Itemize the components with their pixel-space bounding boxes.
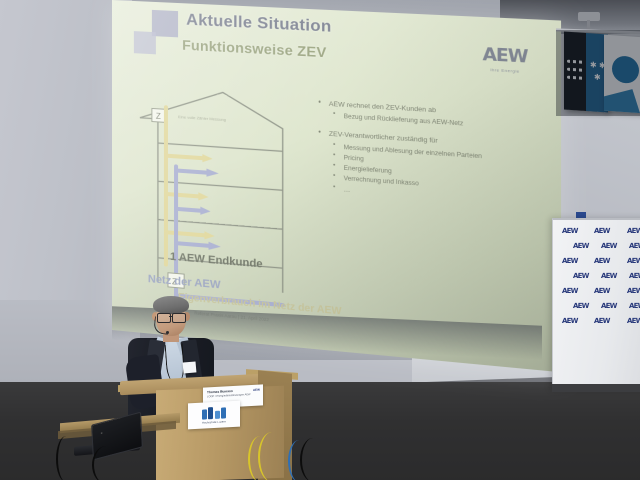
aew-logo-icon: AEW [573, 272, 589, 280]
aew-logo-icon: AEW [629, 302, 640, 310]
aew-logo-icon: AEW [561, 317, 577, 325]
aew-logo-icon: AEW [594, 257, 610, 265]
backdrop-row: AEW AEW AEW [553, 287, 640, 295]
name-card-brand: AEW [253, 388, 260, 392]
institution-label: Hochschule Luzern [202, 420, 226, 424]
power-cable [56, 436, 76, 480]
yellow-network-cable [258, 432, 286, 480]
presentation-photo: Aktuelle Situation Funktionsweise ZEV AE… [0, 0, 640, 480]
aew-logo-icon: AEW [601, 272, 617, 280]
slide-bullet-list: AEW rechnet den ZEV-Kunden ab Bezug und … [316, 100, 550, 212]
aew-logo-mark: AEW [482, 44, 527, 67]
backdrop-row: AEW AEW AEW [553, 272, 640, 280]
backdrop-row: AEW AEW AEW [553, 257, 640, 265]
slide-title: Aktuelle Situation [186, 11, 331, 36]
aew-logo-icon: AEW [561, 257, 577, 265]
backdrop-base [552, 384, 640, 392]
aew-logo-icon: AEW [627, 227, 640, 235]
backdrop-row: AEW AEW AEW [553, 317, 640, 325]
svg-text:Z: Z [156, 112, 161, 121]
backdrop-row: AEW AEW AEW [553, 242, 640, 250]
flag-circle [612, 55, 639, 84]
speaker-name-badge [183, 361, 197, 373]
slide-subtitle: Funktionsweise ZEV [182, 37, 326, 61]
aew-logo-icon: AEW [629, 272, 640, 280]
aew-logo-icon: AEW [627, 257, 640, 265]
aew-logo-icon: AEW [594, 227, 610, 235]
svg-text:Eine volle Zähler Messung: Eine volle Zähler Messung [178, 114, 226, 122]
backdrop-row: AEW AEW AEW [553, 227, 640, 235]
glasses-lens-right [172, 313, 186, 323]
flag-star: ✱ [590, 61, 597, 69]
microphone-tip [166, 331, 169, 334]
aew-logo-icon: AEW [601, 242, 617, 250]
aew-logo-tagline: Ihre Energie [482, 67, 527, 75]
aew-logo: AEW Ihre Energie [482, 44, 527, 74]
laptop-brand-badge: ■ [101, 431, 103, 435]
aew-logo-icon: AEW [561, 287, 577, 295]
backdrop-row: AEW AEW AEW [553, 302, 640, 310]
slide-logo-square-lower [134, 31, 156, 54]
white-blue-circle-flag [604, 35, 640, 114]
aew-logo-icon: AEW [573, 302, 589, 310]
speaker-hair [153, 296, 189, 314]
aew-logo-icon: AEW [627, 287, 640, 295]
flag-star: ✱ [594, 74, 601, 82]
aew-logo-icon: AEW [627, 317, 640, 325]
flag-triangle [604, 89, 640, 113]
aew-logo-icon: AEW [573, 242, 589, 250]
aew-logo-icon: AEW [594, 287, 610, 295]
aew-logo-icon: AEW [561, 227, 577, 235]
aew-logo-icon: AEW [594, 317, 610, 325]
aargau-flag: ✱ ✱ ✱ [564, 31, 608, 112]
aew-backdrop: AEW AEW AEW AEW AEW AEW AEW AEW AEW AEW … [552, 218, 640, 390]
power-cable [300, 438, 326, 480]
aew-logo-icon: AEW [629, 242, 640, 250]
aew-logo-icon: AEW [601, 302, 617, 310]
institution-sign: Hochschule Luzern [188, 401, 240, 430]
institution-logo-icon [202, 406, 227, 419]
power-cable [92, 446, 120, 480]
